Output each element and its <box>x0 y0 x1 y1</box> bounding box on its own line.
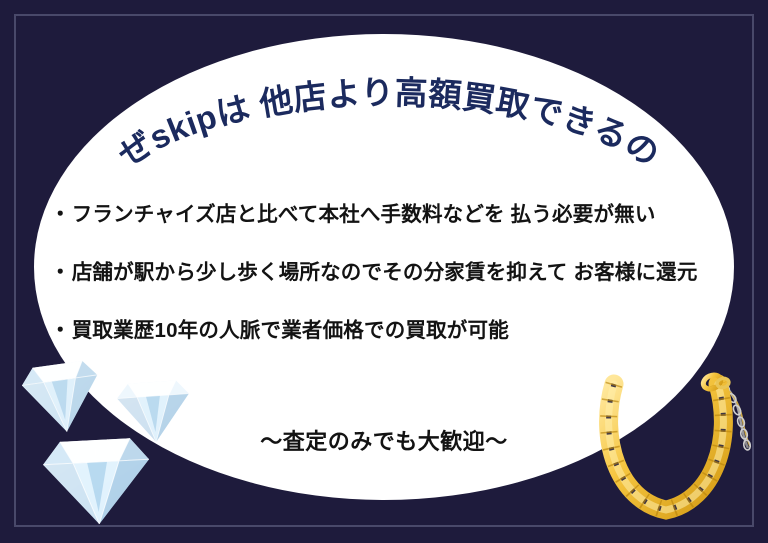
list-item: ・ フランチャイズ店と比べて本社へ手数料などを 払う必要が無い <box>50 186 730 244</box>
list-item-label: フランチャイズ店と比べて本社へ手数料などを 払う必要が無い <box>72 205 656 226</box>
promo-banner: なぜskipは 他店より高額買取できるのか ・ フランチャイズ店と比べて本社へ手… <box>0 0 768 543</box>
bullet-marker-icon: ・ <box>50 205 71 226</box>
gold-chain-necklace-icon <box>592 360 764 530</box>
bullet-marker-icon: ・ <box>50 321 71 342</box>
list-item: ・ 買取業歴10年の人脈で業者価格での買取が可能 <box>50 302 730 360</box>
page-title: なぜskipは 他店より高額買取できるのか <box>0 48 768 178</box>
diamond-icon <box>26 428 169 531</box>
list-item-label: 買取業歴10年の人脈で業者価格での買取が可能 <box>72 321 509 342</box>
benefit-list: ・ フランチャイズ店と比べて本社へ手数料などを 払う必要が無い ・ 店舗が駅から… <box>50 186 730 360</box>
list-item: ・ 店舗が駅から少し歩く場所なのでその分家賃を抑えて お客様に還元 <box>50 244 730 302</box>
bullet-marker-icon: ・ <box>50 263 71 284</box>
list-item-label: 店舗が駅から少し歩く場所なのでその分家賃を抑えて お客様に還元 <box>72 263 698 284</box>
